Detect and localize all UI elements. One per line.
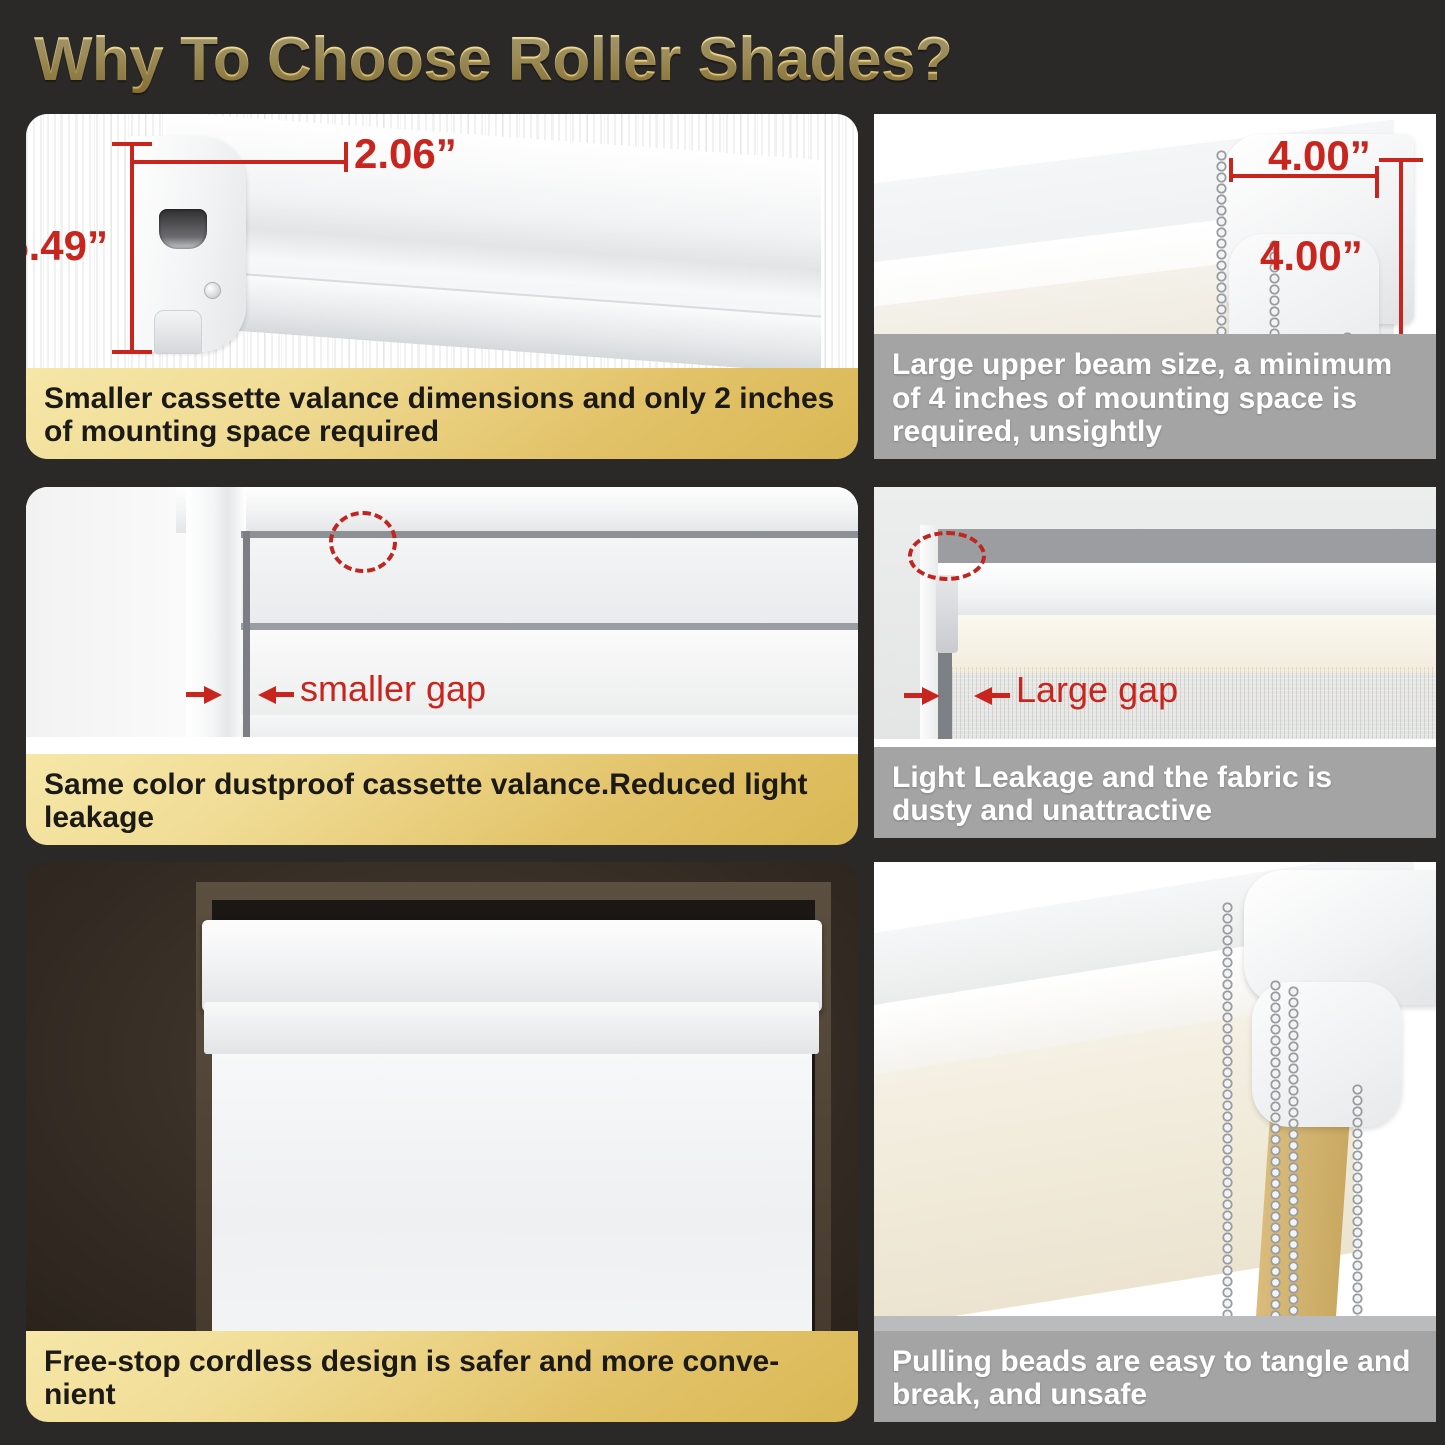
dashed-highlight-circle	[329, 511, 397, 573]
height-dimension-tick-top	[112, 142, 152, 146]
gap-arrow-left	[922, 687, 940, 705]
panel-dustproof-valance: smaller gap Same color dustproof cassett…	[26, 487, 858, 845]
panel-4-photo: Large gap	[874, 487, 1436, 739]
dashed-highlight-circle	[908, 531, 986, 581]
floor-shadow	[874, 1316, 1436, 1332]
panel-2-caption: Large upper beam size, a minimum of 4 in…	[874, 334, 1436, 459]
panel-5-caption-line-2: nient	[44, 1378, 840, 1412]
beam-height-label: 4.00”	[1260, 232, 1363, 280]
panel-6-photo	[874, 862, 1436, 1332]
shade-edge-gap	[243, 531, 250, 737]
cassette-valance-lip	[204, 1002, 819, 1054]
panel-pulling-beads: Pulling beads are easy to tangle and bre…	[874, 862, 1436, 1422]
window-crown-moulding	[176, 487, 858, 533]
panel-5-photo	[26, 862, 858, 1332]
panel-light-leakage: Large gap Light Leakage and the fabric i…	[874, 487, 1436, 838]
wall-left	[26, 487, 201, 737]
gap-arrow-left-tail	[904, 693, 924, 698]
gap-arrow-right-tail	[276, 692, 294, 697]
gap-arrow-right-tail	[992, 693, 1010, 698]
panel-cassette-dimensions: 2.06” 5.49” Smaller cassette valance dim…	[26, 114, 858, 459]
beam-height-line	[1399, 158, 1403, 352]
beam-width-label: 4.00”	[1268, 132, 1371, 180]
panel-6-caption: Pulling beads are easy to tangle and bre…	[874, 1331, 1436, 1422]
panel-5-caption-line-1: Free-stop cordless design is safer and m…	[44, 1345, 840, 1379]
roller-shade-fabric	[212, 1050, 812, 1332]
gap-arrow-right	[974, 687, 992, 705]
panel-cordless-design: Free-stop cordless design is safer and m…	[26, 862, 858, 1422]
bead-chain-2	[1270, 980, 1281, 1332]
shade-section-bottom	[241, 715, 858, 737]
white-roller-tube	[934, 563, 1436, 623]
smaller-gap-label: smaller gap	[300, 668, 486, 710]
beam-width-tick-left	[1229, 158, 1233, 182]
panel-3-caption: Same color dustproof cassette valance.Re…	[26, 754, 858, 845]
beam-height-tick-top	[1379, 158, 1423, 162]
cream-roller-band	[934, 615, 1436, 673]
panel-5-caption: Free-stop cordless design is safer and m…	[26, 1331, 858, 1422]
beam-width-tick-right	[1375, 166, 1379, 198]
height-dimension-line	[130, 142, 134, 354]
bead-chain-4	[1352, 1084, 1363, 1332]
bead-chain-3	[1288, 986, 1299, 1332]
width-dimension-label: 2.06”	[354, 130, 457, 178]
large-gap-label: Large gap	[1016, 669, 1178, 711]
height-dimension-tick-bottom	[112, 350, 152, 354]
panel-3-photo: smaller gap	[26, 487, 858, 737]
width-dimension-line	[130, 160, 348, 164]
gap-arrow-right	[258, 686, 276, 704]
panel-large-upper-beam: 4.00” 4.00” Large upper beam size, a min…	[874, 114, 1436, 459]
cassette-valance	[202, 920, 822, 1012]
valance-slot	[159, 209, 207, 249]
width-dimension-tick-right	[344, 142, 348, 172]
gap-arrow-left-tail	[186, 692, 206, 697]
valance-screw	[204, 282, 221, 299]
gap-arrow-left	[204, 686, 222, 704]
panel-1-photo: 2.06” 5.49”	[26, 114, 858, 372]
bead-chain-1	[1222, 902, 1233, 1332]
page-title: Why To Choose Roller Shades?	[34, 24, 952, 95]
panel-4-caption: Light Leakage and the fabric is dusty an…	[874, 747, 1436, 838]
shade-rail-mid	[241, 623, 858, 630]
height-dimension-label: 5.49”	[26, 222, 108, 270]
valance-knob	[154, 310, 202, 354]
bracket-clip	[936, 575, 958, 653]
panel-1-caption: Smaller cassette valance dimensions and …	[26, 368, 858, 459]
